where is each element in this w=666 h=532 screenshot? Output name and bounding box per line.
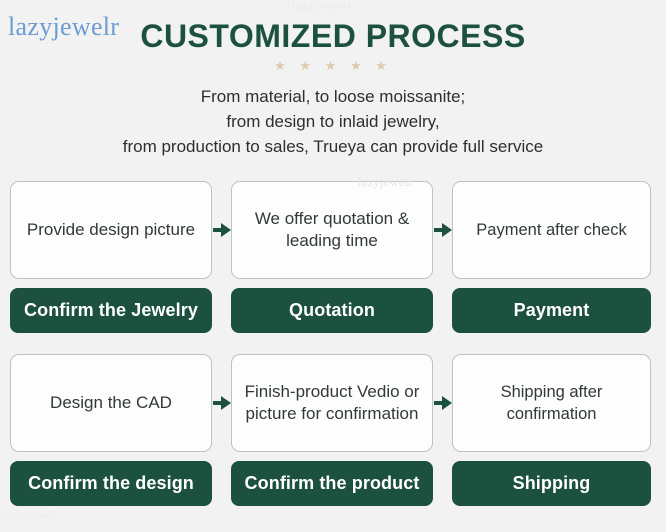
flow-row: Provide design picture Confirm the Jewel… [0, 181, 666, 354]
intro-line-2: from design to inlaid jewelry, [0, 109, 666, 134]
flow-step-design-the-cad[interactable]: Design the CAD Confirm the design [10, 354, 212, 506]
flow-row: Design the CAD Confirm the design Finish… [0, 354, 666, 527]
step-description: Finish-product Vedio or picture for conf… [240, 381, 424, 425]
step-card: Payment after check [452, 181, 651, 279]
arrow-head [442, 396, 452, 410]
intro-text: From material, to loose moissanite; from… [0, 84, 666, 159]
step-card: We offer quotation & leading time [231, 181, 433, 279]
step-description: Payment after check [476, 219, 626, 241]
page-title: CUSTOMIZED PROCESS [0, 0, 666, 52]
step-label: Confirm the design [28, 473, 194, 494]
step-label-badge: Confirm the product [231, 461, 433, 506]
step-description: Provide design picture [27, 219, 195, 241]
flow-step-confirm-the-product[interactable]: Finish-product Vedio or picture for conf… [231, 354, 433, 506]
step-label-badge: Payment [452, 288, 651, 333]
step-label-badge: Shipping [452, 461, 651, 506]
step-card: Provide design picture [10, 181, 212, 279]
step-label: Quotation [289, 300, 375, 321]
step-card: Design the CAD [10, 354, 212, 452]
step-description: Design the CAD [50, 392, 172, 414]
intro-line-1: From material, to loose moissanite; [0, 84, 666, 109]
step-label-badge: Confirm the Jewelry [10, 288, 212, 333]
flow-step-provide-design-picture[interactable]: Provide design picture Confirm the Jewel… [10, 181, 212, 333]
step-card: Shipping after confirmation [452, 354, 651, 452]
step-description: Shipping after confirmation [461, 381, 642, 425]
step-label: Confirm the Jewelry [24, 300, 198, 321]
step-label: Shipping [513, 473, 591, 494]
step-label-badge: Quotation [231, 288, 433, 333]
arrow-head [221, 223, 231, 237]
arrow-head [442, 223, 452, 237]
flow-step-payment[interactable]: Payment after check Payment [452, 181, 651, 333]
step-card: Finish-product Vedio or picture for conf… [231, 354, 433, 452]
intro-line-3: from production to sales, Trueya can pro… [0, 134, 666, 159]
step-label-badge: Confirm the design [10, 461, 212, 506]
arrow-head [221, 396, 231, 410]
step-label: Confirm the product [245, 473, 420, 494]
process-flow: Provide design picture Confirm the Jewel… [0, 181, 666, 527]
step-label: Payment [514, 300, 590, 321]
flow-step-quotation[interactable]: We offer quotation & leading time Quotat… [231, 181, 433, 333]
step-description: We offer quotation & leading time [240, 208, 424, 252]
flow-step-shipping[interactable]: Shipping after confirmation Shipping [452, 354, 651, 506]
star-rating: ★ ★ ★ ★ ★ [0, 59, 666, 73]
page-header: CUSTOMIZED PROCESS ★ ★ ★ ★ ★ From materi… [0, 0, 666, 159]
